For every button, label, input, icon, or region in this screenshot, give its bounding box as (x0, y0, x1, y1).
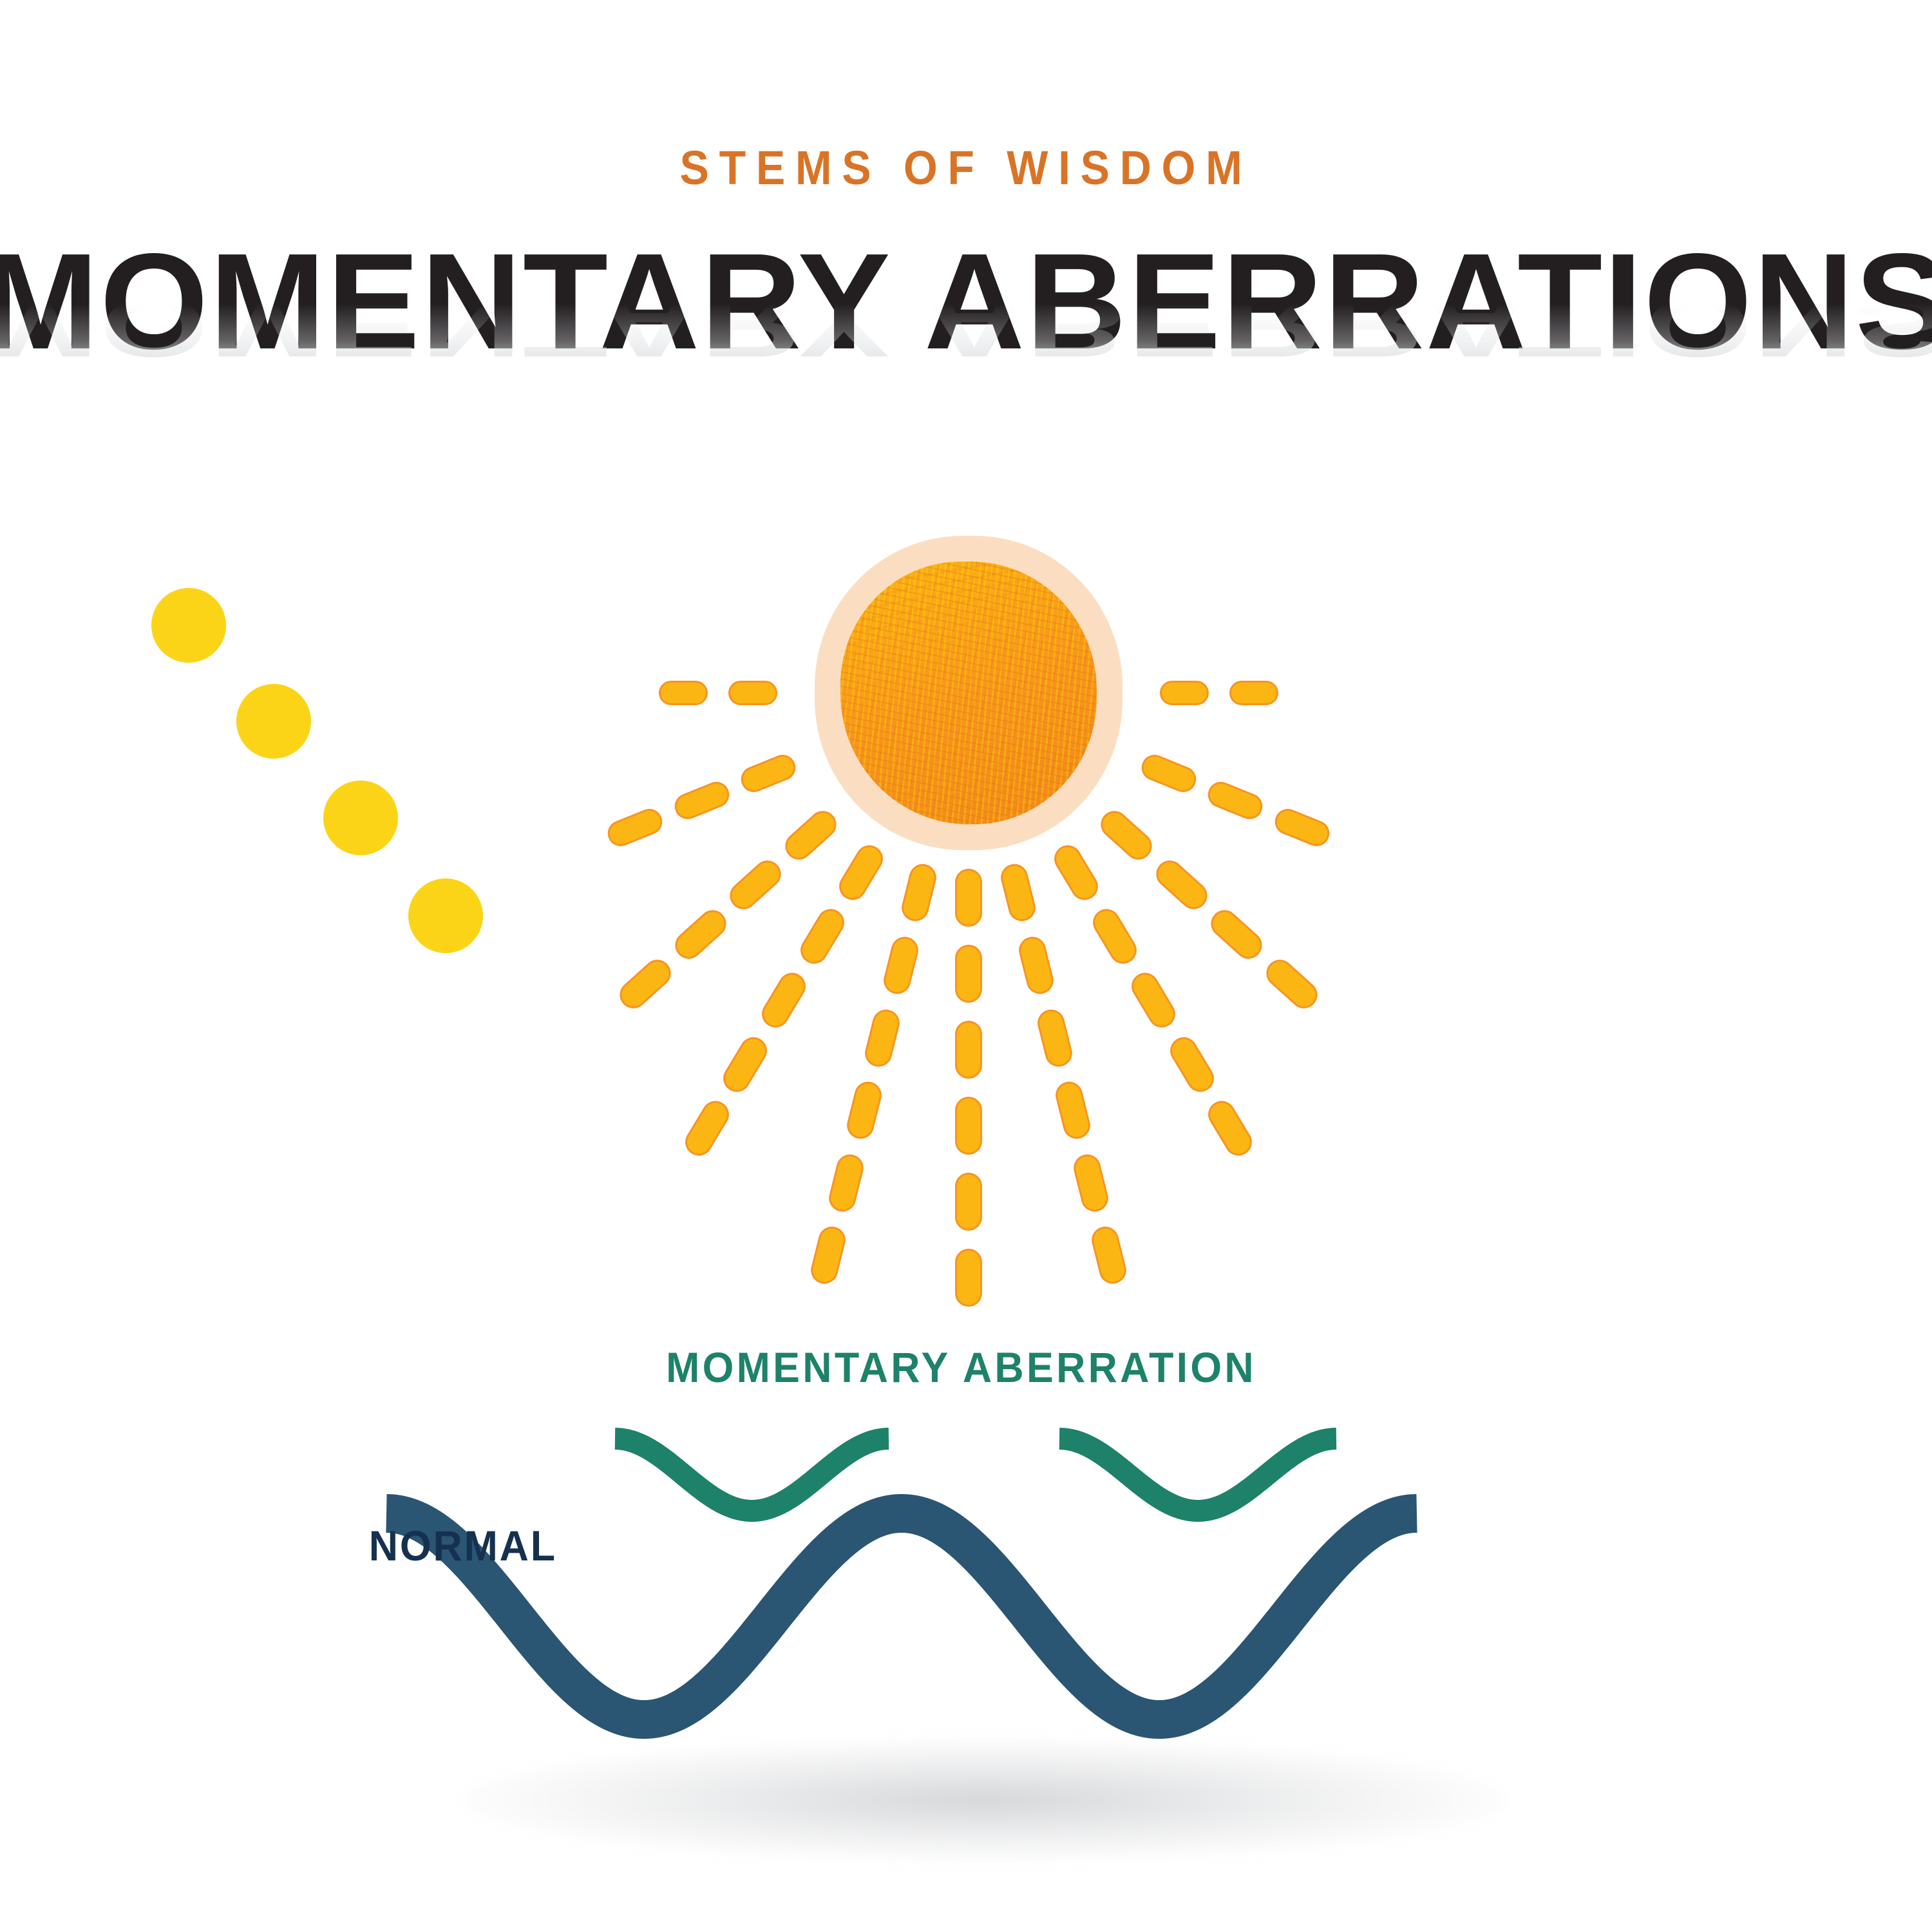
ground-shadow (464, 1739, 1507, 1861)
wave-diagram (0, 0, 1932, 1932)
poster-canvas: STEMS OF WISDOM MOMENTARY ABERRATIONS MO… (0, 0, 1932, 1932)
aberration-wave-left-path (615, 1439, 889, 1511)
normal-wave-label: NORMAL (369, 1521, 557, 1570)
aberration-wave-label: MOMENTARY ABERRATION (666, 1343, 1256, 1392)
aberration-wave-right-path (1059, 1439, 1336, 1511)
